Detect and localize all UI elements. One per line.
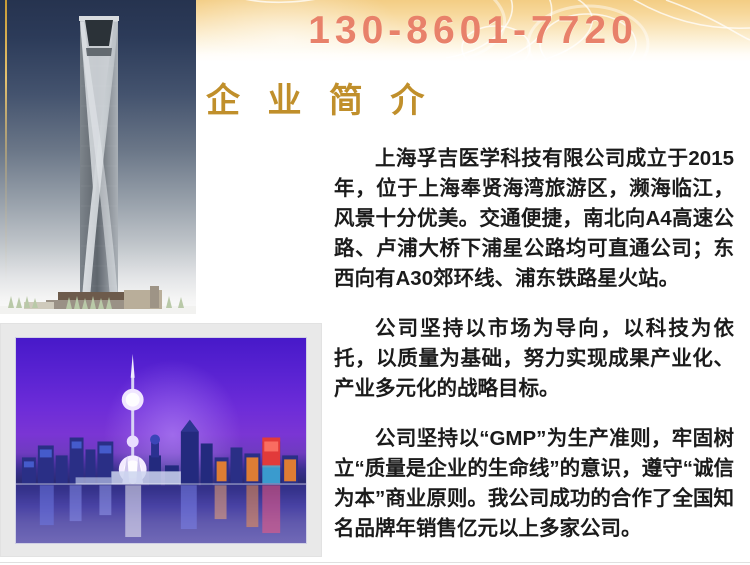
gold-accent-line bbox=[5, 0, 7, 314]
paragraph-3: 公司坚持以“GMP”为生产准则，牢固树立“质量是企业的生命线”的意识，遵守“诚信… bbox=[334, 424, 734, 544]
bottom-divider bbox=[0, 562, 750, 563]
tower-building-graphic bbox=[76, 6, 122, 302]
tower-base-graphic bbox=[0, 284, 196, 314]
phone-banner: 130-8601-7720 bbox=[196, 0, 750, 62]
paragraph-2: 公司坚持以市场为导向，以科技为依托，以质量为基础，努力实现成果产业化、产业多元化… bbox=[334, 314, 734, 404]
skyline-buildings-graphic bbox=[16, 338, 306, 543]
tower-image bbox=[0, 0, 196, 314]
skyline-photo-frame bbox=[0, 323, 322, 557]
company-profile-page: 130-8601-7720 bbox=[0, 0, 750, 565]
skyline-image bbox=[15, 337, 307, 544]
page-title: 企 业 简 介 bbox=[206, 73, 433, 122]
phone-number: 130-8601-7720 bbox=[196, 0, 750, 62]
profile-content: 上海孚吉医学科技有限公司成立于2015年，位于上海奉贤海湾旅游区，濒海临江，风景… bbox=[334, 144, 734, 544]
paragraph-1: 上海孚吉医学科技有限公司成立于2015年，位于上海奉贤海湾旅游区，濒海临江，风景… bbox=[334, 144, 734, 294]
